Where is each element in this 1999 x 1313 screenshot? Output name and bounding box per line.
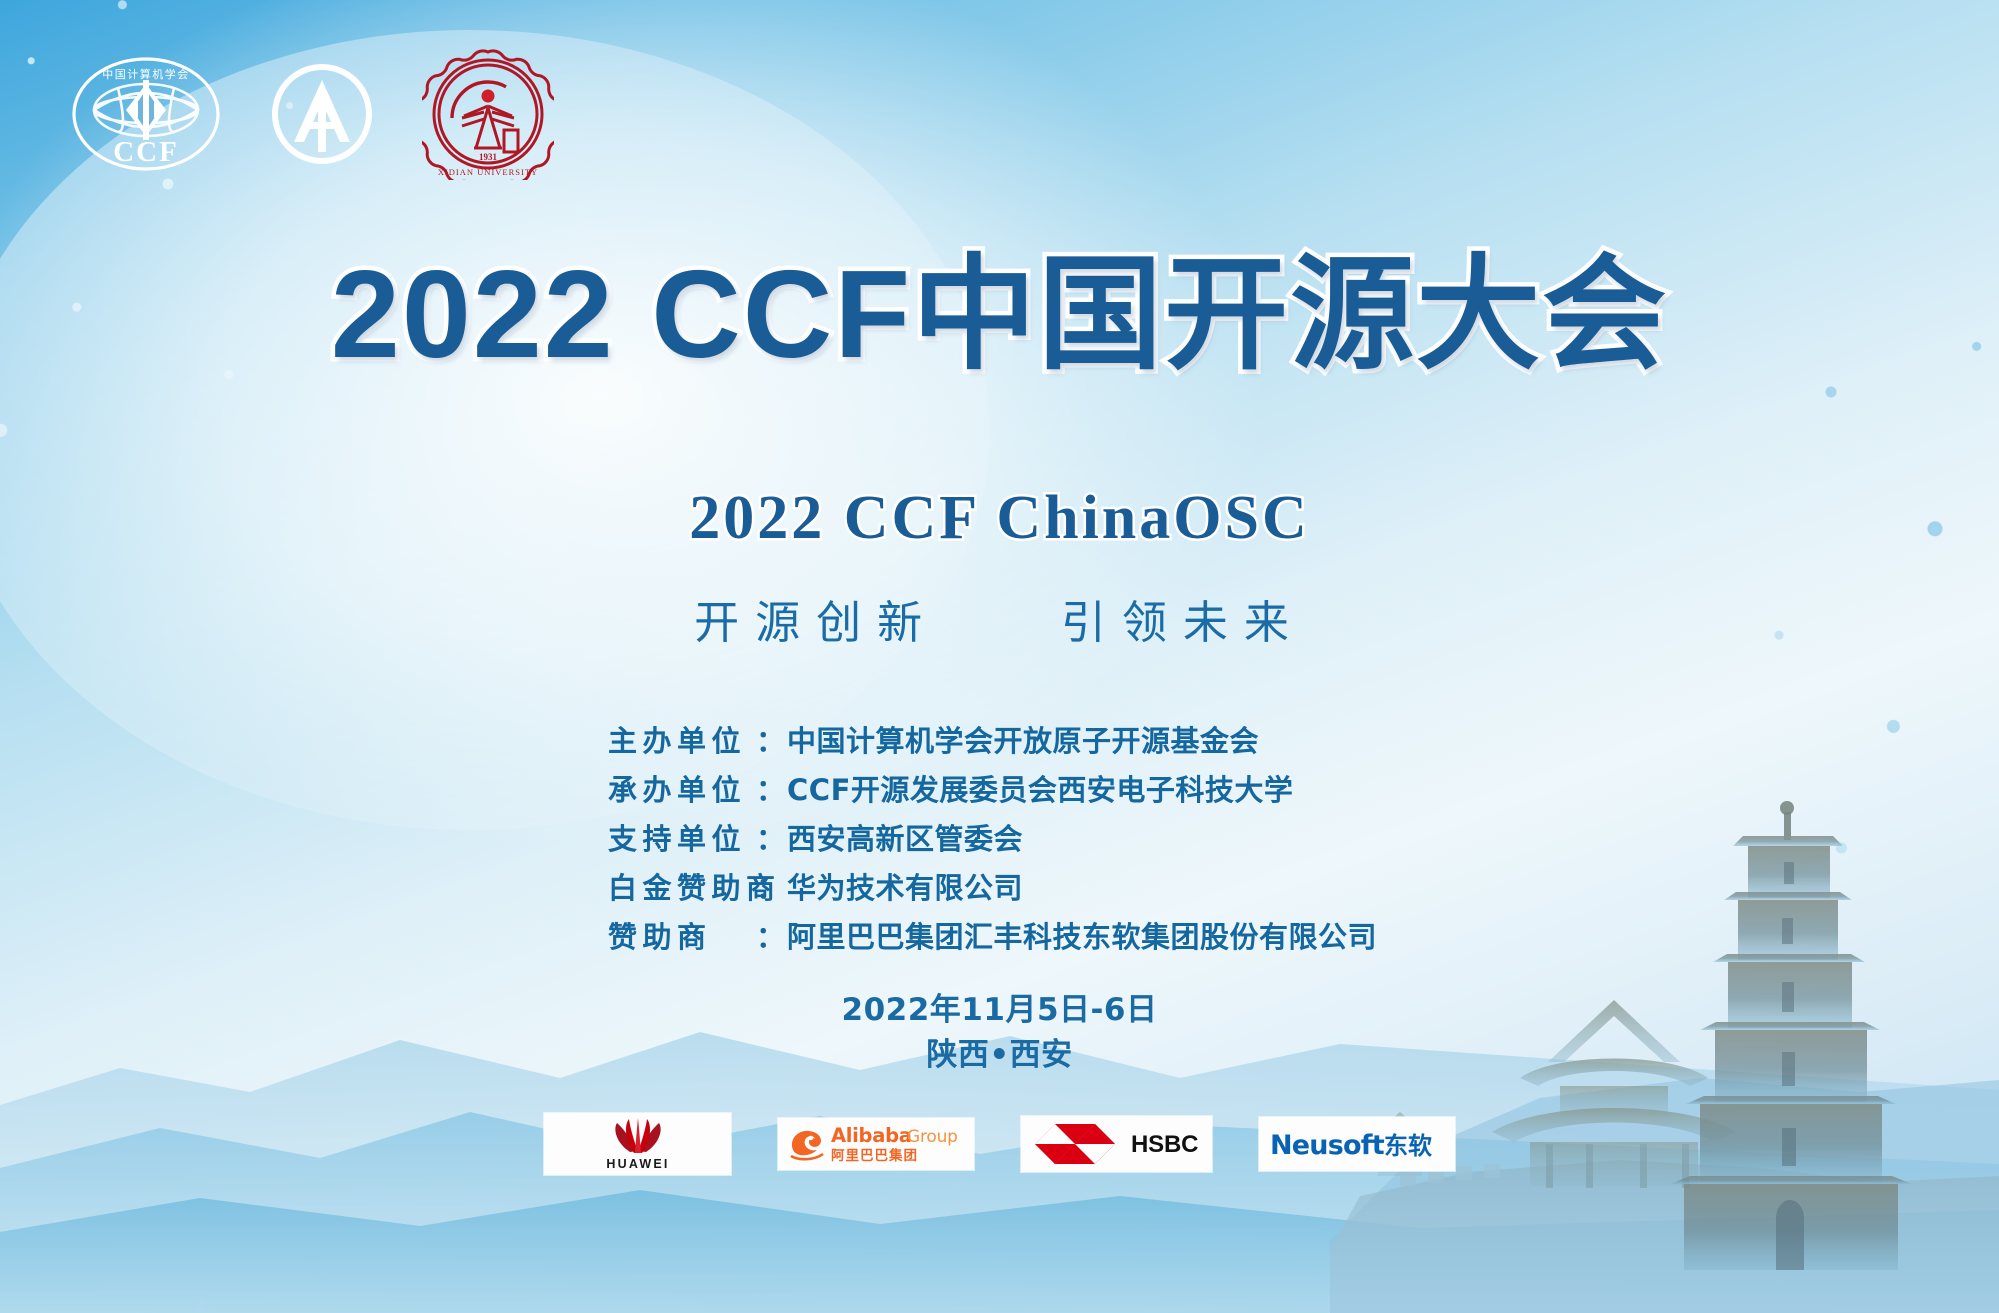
organizer-value-2: 开放原子开源基金会: [994, 727, 1260, 756]
organizer-label: 赞助商: [608, 923, 756, 952]
alibaba-mark: [791, 1131, 823, 1159]
organizer-label: 白金赞助商: [608, 874, 756, 903]
organizer-colon: ：: [756, 727, 785, 756]
huawei-logo: HUAWEI: [553, 1115, 723, 1173]
organizer-value-3: 东软集团股份有限公司: [1082, 923, 1377, 952]
organizer-value: 中国计算机学会: [787, 727, 994, 756]
sponsor-card-huawei: HUAWEI: [544, 1113, 731, 1175]
header-logo-row: 中国计算机学会 CCF: [70, 48, 554, 180]
openatom-logo: [268, 60, 376, 168]
slogan-left: 开源创新: [694, 596, 938, 649]
organizer-row: 支持单位 ： 西安高新区管委会: [608, 825, 1377, 854]
organizer-row: 白金赞助商 ： 华为技术有限公司: [608, 874, 1377, 903]
xidian-university-logo: 1931 XIDIAN UNIVERSITY: [422, 48, 554, 180]
hsbc-logo: HSBC: [1027, 1119, 1207, 1169]
organizer-label: 承办单位: [608, 776, 756, 805]
alibaba-logo-text-cn: 阿里巴巴集团: [831, 1147, 918, 1164]
organizer-value: 阿里巴巴集团: [787, 923, 964, 952]
organizer-label: 支持单位: [608, 825, 756, 854]
organizer-colon: ：: [756, 923, 785, 952]
organizer-block: 主办单位 ： 中国计算机学会 开放原子开源基金会 承办单位 ： CCF开源发展委…: [608, 727, 1377, 972]
sponsor-card-hsbc: HSBC: [1021, 1116, 1212, 1172]
ccf-logo: 中国计算机学会 CCF: [70, 54, 222, 174]
alibaba-logo-text-group: Group: [907, 1127, 958, 1147]
conference-poster: 中国计算机学会 CCF: [0, 0, 1999, 1313]
organizer-row: 承办单位 ： CCF开源发展委员会 西安电子科技大学: [608, 776, 1377, 805]
organizer-value: 华为技术有限公司: [787, 874, 1023, 903]
alibaba-logo: Alibaba Group 阿里巴巴集团: [783, 1120, 969, 1168]
organizer-value: CCF开源发展委员会: [787, 776, 1057, 805]
event-details: 2022年11月5日-6日 陕西•西安: [0, 988, 1999, 1078]
event-location: 陕西•西安: [0, 1033, 1999, 1078]
event-date: 2022年11月5日-6日: [0, 988, 1999, 1033]
xidian-logo-year: 1931: [479, 152, 498, 162]
sponsor-logo-strip: HUAWEI Alibaba Group 阿里巴巴集团: [0, 1113, 1999, 1175]
hsbc-hexagon-mark: [1035, 1124, 1115, 1164]
hsbc-logo-text: HSBC: [1131, 1131, 1198, 1158]
sponsor-card-neusoft: Neusoft 东软: [1259, 1117, 1455, 1171]
organizer-row: 赞助商 ： 阿里巴巴集团 汇丰科技 东软集团股份有限公司: [608, 923, 1377, 952]
poster-main-title: 2022 CCF中国开源大会: [0, 253, 1999, 377]
poster-slogan: 开源创新 引领未来: [0, 600, 1999, 645]
neusoft-logo-text-cn: 东软: [1384, 1132, 1432, 1160]
organizer-value: 西安高新区管委会: [787, 825, 1023, 854]
sponsor-card-alibaba: Alibaba Group 阿里巴巴集团: [778, 1118, 974, 1170]
organizer-row: 主办单位 ： 中国计算机学会 开放原子开源基金会: [608, 727, 1377, 756]
neusoft-logo-text: Neusoft: [1270, 1130, 1385, 1161]
ccf-logo-abbr: CCF: [113, 136, 179, 168]
organizer-value-2: 汇丰科技: [964, 923, 1082, 952]
splatter-texture-bottom-left: [0, 873, 620, 1313]
organizer-colon: ：: [756, 874, 785, 903]
organizer-value-2: 西安电子科技大学: [1057, 776, 1293, 805]
ccf-logo-cn-text: 中国计算机学会: [102, 67, 190, 81]
xidian-logo-en: XIDIAN UNIVERSITY: [438, 167, 538, 177]
organizer-colon: ：: [756, 825, 785, 854]
alibaba-logo-text: Alibaba: [831, 1124, 912, 1147]
neusoft-logo: Neusoft 东软: [1264, 1121, 1450, 1167]
poster-english-title: 2022 CCF ChinaOSC: [0, 487, 1999, 549]
slogan-right: 引领未来: [1061, 596, 1305, 649]
huawei-logo-text: HUAWEI: [606, 1157, 669, 1171]
organizer-colon: ：: [756, 776, 785, 805]
organizer-label: 主办单位: [608, 727, 756, 756]
